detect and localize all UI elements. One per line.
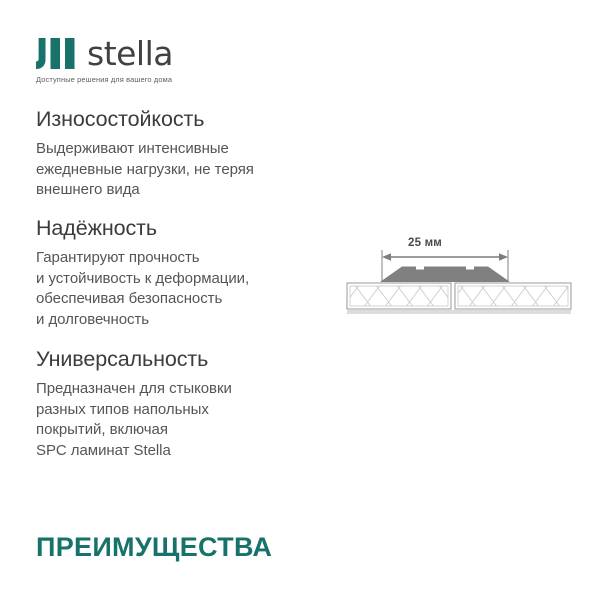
feature-body: Выдерживают интенсивные ежедневные нагру… (36, 139, 326, 201)
feature-block-wear-resistance: Износостойкость Выдерживают интенсивные … (36, 106, 326, 201)
feature-body: Гарантируют прочность и устойчивость к д… (36, 248, 326, 330)
transition-profile-shape (380, 267, 510, 283)
dimension-arrowhead-right (499, 253, 508, 260)
feature-body-line: ежедневные нагрузки, не теряя (36, 160, 326, 181)
feature-block-universality: Универсальность Предназначен для стыковк… (36, 346, 326, 461)
feature-block-reliability: Надёжность Гарантируют прочность и устой… (36, 215, 326, 330)
floor-panel-left (347, 283, 451, 309)
feature-body-line: обеспечивая безопасность (36, 289, 326, 310)
feature-body-line: Выдерживают интенсивные (36, 139, 326, 160)
logo-tagline: Доступные решения для вашего дома (36, 75, 336, 85)
stella-bars-mark-icon (36, 38, 78, 69)
feature-body-line: и долговечность (36, 310, 326, 331)
feature-body-line: Предназначен для стыковки (36, 379, 326, 400)
feature-body-line: Гарантируют прочность (36, 248, 326, 269)
logo-wordmark: stella (87, 37, 173, 70)
logo-row: stella (36, 36, 336, 70)
floor-panel-right (455, 283, 571, 309)
feature-body-line: разных типов напольных (36, 400, 326, 421)
diagram-svg: 25 мм (336, 232, 582, 318)
subfloor-baseline (347, 310, 571, 314)
feature-body: Предназначен для стыковки разных типов н… (36, 379, 326, 461)
feature-body-line: SPC ламинат Stella (36, 441, 326, 462)
feature-title: Износостойкость (36, 106, 326, 132)
section-heading-advantages: ПРЕИМУЩЕСТВА (36, 531, 272, 564)
dimension-label: 25 мм (408, 237, 442, 249)
floor-transition-profile-diagram: 25 мм (336, 232, 582, 318)
feature-body-line: внешнего вида (36, 180, 326, 201)
feature-body-line: покрытий, включая (36, 420, 326, 441)
dimension-arrowhead-left (382, 253, 391, 260)
feature-body-line: и устойчивость к деформации, (36, 269, 326, 290)
brand-logo-block: stella Доступные решения для вашего дома (36, 36, 336, 85)
feature-title: Универсальность (36, 346, 326, 372)
feature-title: Надёжность (36, 215, 326, 241)
